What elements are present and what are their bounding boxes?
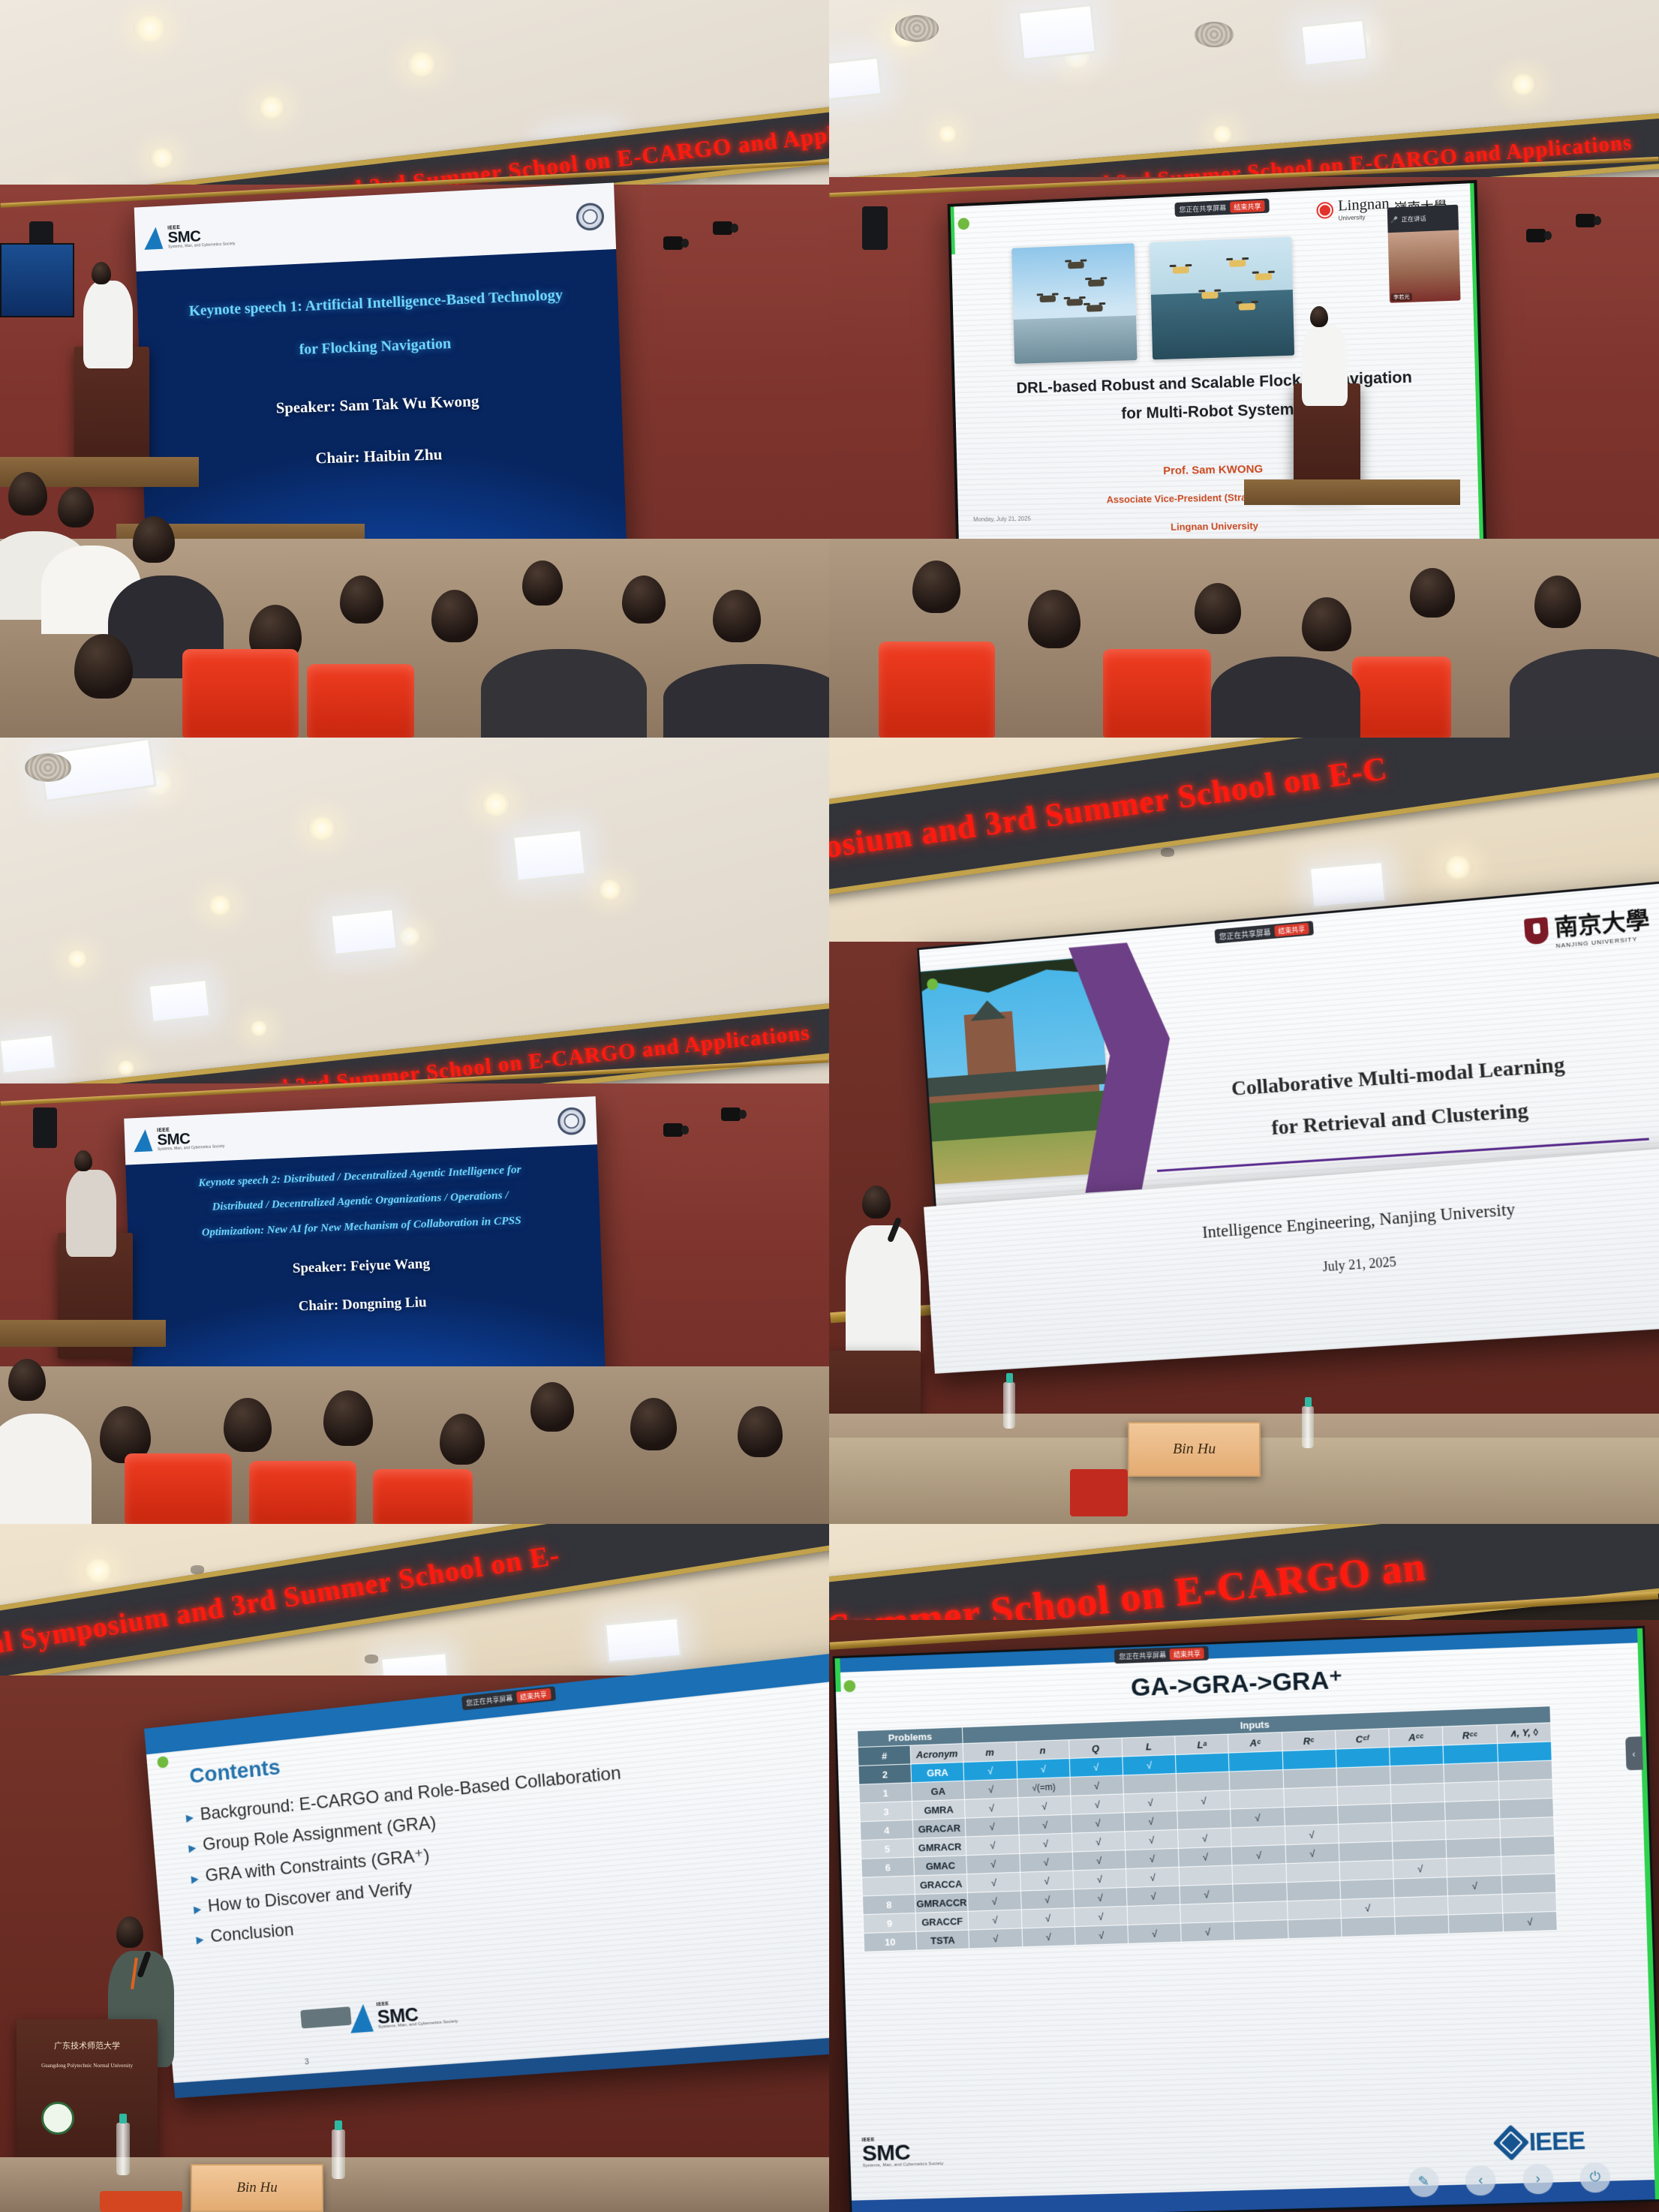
nanjing-university-logo: 南京大學 NANJING UNIVERSITY	[1523, 900, 1651, 952]
ceiling-panel-light	[829, 56, 882, 101]
row-number: 10	[864, 1931, 917, 1952]
ceiling-vent	[895, 15, 939, 42]
table-cell	[1448, 1895, 1503, 1915]
col-header-acronym: Acronym	[910, 1744, 963, 1764]
table-cell: √	[1179, 1847, 1233, 1867]
table-cell	[1176, 1753, 1230, 1773]
bullet-arrow-icon: ▶	[191, 1873, 199, 1886]
downlight	[406, 52, 437, 77]
table-cell: √	[1020, 1871, 1073, 1891]
table-cell	[1339, 1841, 1393, 1862]
col-header-m: m	[963, 1742, 1017, 1762]
screen-highlight-edge	[950, 206, 954, 254]
smc-label: SMC	[862, 2141, 944, 2165]
drone-icon	[1066, 299, 1083, 306]
projection-screen: 您正在共享屏幕 结束共享 GA->GRA->GRA⁺ Problems Inpu…	[833, 1626, 1659, 2212]
col-header-num: #	[858, 1745, 911, 1766]
table-cell: √	[1181, 1922, 1235, 1942]
row-acronym: GMAC	[914, 1856, 967, 1876]
table-cell	[1231, 1826, 1285, 1847]
ceiling-panel-light	[0, 1033, 57, 1074]
table-cell	[1393, 1840, 1447, 1860]
annotation-badge[interactable]	[157, 1756, 169, 1769]
row-acronym: TSTA	[916, 1930, 969, 1950]
share-status-text: 您正在共享屏幕	[1119, 1649, 1166, 1661]
audience-head	[440, 1414, 485, 1465]
slide-title-line2: Distributed / Decentralized Agentic Orga…	[140, 1186, 584, 1217]
name-plate: Bin Hu	[191, 2164, 323, 2212]
table-cell	[1177, 1772, 1231, 1792]
table-cell: √	[1180, 1884, 1234, 1904]
bullet-text: Conclusion	[209, 1920, 294, 1948]
bullet-text: How to Discover and Verify	[207, 1878, 413, 1916]
table-cell: √	[1177, 1790, 1231, 1811]
table-cell	[1499, 1798, 1554, 1819]
audience-shoulders	[0, 1414, 92, 1524]
speaking-status: 正在讲话	[1401, 214, 1426, 224]
drone-icon	[1173, 266, 1189, 274]
downlight	[937, 125, 958, 143]
lingnan-mark-icon	[1316, 201, 1333, 218]
table-cell: √	[1020, 1889, 1074, 1910]
ceiling-panel-light	[1017, 4, 1097, 61]
ceiling-panel-light	[147, 978, 211, 1023]
col-header-Acc: Aᶜᶜ	[1389, 1727, 1443, 1748]
share-status-text: 您正在共享屏幕	[1179, 203, 1226, 215]
ceiling-vent	[25, 753, 71, 782]
share-status-text: 您正在共享屏幕	[1219, 926, 1271, 942]
table-cell	[1447, 1856, 1501, 1877]
table-cell: √	[1124, 1811, 1178, 1831]
annotation-badge[interactable]	[958, 218, 970, 230]
downlight	[597, 879, 623, 900]
water-bottle	[1302, 1406, 1314, 1448]
slide-title-line1: Keynote speech 1: Artificial Intelligenc…	[156, 286, 598, 323]
table-cell	[1392, 1820, 1446, 1841]
table-cell	[1282, 1749, 1336, 1770]
smc-sublabel: Systems, Man, and Cybernetics Society	[862, 2162, 943, 2169]
participant-video-tile[interactable]: 🎤 正在讲话 李若光	[1387, 204, 1460, 302]
slide-title-line2: for Multi-Robot Systems	[966, 395, 1469, 426]
stop-share-button[interactable]: 结束共享	[515, 1688, 551, 1703]
auditorium-chair	[249, 1461, 357, 1524]
drone-icon	[1229, 260, 1246, 267]
name-plate-text: Bin Hu	[1173, 1441, 1216, 1458]
partner-logo-pill	[300, 2006, 351, 2029]
audience-shoulders	[1211, 657, 1360, 738]
camera	[1576, 214, 1595, 227]
auditorium-chair	[182, 649, 299, 738]
audience-head	[622, 576, 666, 624]
smc-logo: IEEE SMC Systems, Man, and Cybernetics S…	[350, 1997, 458, 2033]
ceiling-panel-light	[329, 907, 398, 956]
screen-share-bar[interactable]: 您正在共享屏幕 结束共享	[1174, 198, 1269, 217]
table-cell: √	[1070, 1775, 1123, 1796]
audience-head	[431, 590, 478, 642]
table-cell: √	[1021, 1908, 1074, 1928]
table-cell	[1338, 1804, 1392, 1824]
audience-head	[8, 472, 47, 515]
slide-speaker: Speaker: Sam Tak Wu Kwong	[160, 387, 602, 422]
table-cell: √	[1071, 1794, 1124, 1814]
downlight	[116, 1060, 136, 1076]
ieee-logo: IEEE	[1498, 2126, 1585, 2157]
audience-shoulders	[481, 649, 647, 738]
table-cell: √	[1126, 1867, 1180, 1887]
stop-share-button[interactable]: 结束共享	[1230, 200, 1265, 212]
ceiling-vent	[1195, 22, 1234, 47]
table-cell	[1391, 1802, 1445, 1822]
table-cell: √	[1123, 1793, 1177, 1813]
table-body: 2GRA√√√√1GA√√(=m)√3GMRA√√√√√4GRACAR√√√√√…	[858, 1742, 1557, 1952]
smc-logo: IEEE SMC Systems, Man, and Cybernetics S…	[146, 224, 236, 251]
row-number: 4	[860, 1820, 913, 1840]
table-cell	[1234, 1901, 1288, 1922]
red-bag	[1070, 1469, 1128, 1516]
table-cell: √	[1074, 1906, 1127, 1926]
row-acronym: GMRACCR	[915, 1892, 968, 1913]
table-cell: √	[1123, 1755, 1177, 1775]
screen-share-bar[interactable]: 您正在共享屏幕 结束共享	[1214, 921, 1313, 943]
smc-triangle-icon	[134, 1129, 155, 1153]
audience-head	[530, 1382, 574, 1432]
camera	[713, 221, 732, 235]
table-cell	[1502, 1892, 1557, 1913]
screen-highlight-edge	[835, 1658, 841, 1692]
auditorium-chair	[879, 642, 995, 738]
row-number: 5	[861, 1838, 914, 1859]
table-cell	[1446, 1838, 1501, 1858]
row-number: 1	[859, 1783, 912, 1803]
auditorium-chair	[373, 1469, 473, 1524]
table-cell	[1284, 1787, 1338, 1807]
table-cell: √	[1502, 1911, 1557, 1931]
col-header-Rcc: Rᶜᶜ	[1443, 1724, 1498, 1745]
downlight	[307, 816, 337, 840]
table-cell	[1444, 1763, 1498, 1784]
name-plate: Bin Hu	[1128, 1422, 1261, 1477]
table-cell: √	[966, 1853, 1020, 1874]
participant-face	[1387, 230, 1460, 303]
table-cell	[1390, 1745, 1444, 1766]
stop-share-button[interactable]: 结束共享	[1170, 1647, 1204, 1660]
table-cell: √	[1019, 1833, 1072, 1853]
slide-title-line1: Keynote speech 2: Distributed / Decentra…	[140, 1161, 583, 1192]
ceiling-panel-light	[512, 828, 587, 882]
table-cell: √	[968, 1910, 1021, 1930]
slide-chair: Chair: Haibin Zhu	[161, 440, 604, 473]
table-cell: √	[1072, 1850, 1126, 1871]
panel-keynote-1: The 1st International Symposium and 3rd …	[0, 0, 829, 738]
stop-share-button[interactable]: 结束共享	[1274, 922, 1309, 936]
table-cell	[1287, 1899, 1341, 1919]
speaker-head	[74, 1150, 92, 1171]
panel-kwong-talk: t International Symposium and 3rd Summer…	[829, 0, 1659, 738]
table-cell	[1230, 1789, 1284, 1809]
side-display	[0, 243, 74, 317]
downlight	[149, 148, 175, 168]
table-cell	[1337, 1785, 1391, 1805]
speaker-person	[1302, 325, 1348, 406]
panel-gra-table-slide: rd Summer School on E-CARGO an 您正在共享屏幕 结…	[829, 1524, 1659, 2212]
ieee-diamond-icon	[1493, 2125, 1530, 2161]
auditorium-chair	[125, 1453, 233, 1524]
table-cell	[1336, 1766, 1390, 1787]
row-acronym: GRACCF	[915, 1911, 969, 1931]
table-cell: √	[1022, 1927, 1075, 1947]
table-cell	[1501, 1855, 1555, 1875]
annotation-badge[interactable]	[927, 978, 939, 990]
row-acronym: GRA	[911, 1763, 964, 1783]
ceiling-panel-light	[1300, 19, 1369, 68]
podium-label-cn: 广东技术师范大学	[28, 2039, 146, 2051]
table-cell: √	[1285, 1843, 1339, 1863]
annotate-button[interactable]: ✎	[1408, 2166, 1440, 2197]
slide-number: 3	[304, 2057, 309, 2066]
panel-contents-slide: ional Symposium and 3rd Summer School on…	[0, 1524, 829, 2212]
table-cell: √	[1017, 1759, 1070, 1779]
table-cell	[1338, 1823, 1392, 1843]
table-cell	[1177, 1809, 1231, 1829]
water-bottle	[116, 2123, 130, 2175]
table-cell: √	[1069, 1757, 1123, 1777]
podium-label-en: Guangdong Polytechnic Normal University	[28, 2063, 146, 2069]
col-header-Ac: Aᶜ	[1228, 1733, 1282, 1754]
col-header-Rc: Rᶜ	[1282, 1730, 1336, 1751]
table-cell	[1339, 1860, 1393, 1880]
table-cell	[1498, 1779, 1553, 1800]
slide-footer-date: Monday, July 21, 2025	[973, 515, 1031, 523]
sprinkler	[1161, 848, 1174, 857]
table-cell	[1445, 1800, 1500, 1821]
table-cell: √	[963, 1760, 1017, 1781]
water-bottle	[332, 2129, 345, 2179]
table-cell	[1336, 1748, 1390, 1769]
slide-heading: Contents	[188, 1756, 281, 1790]
name-plate-text: Bin Hu	[236, 2180, 277, 2196]
table-cell	[1497, 1742, 1552, 1763]
table-cell: √	[1126, 1848, 1180, 1868]
drone-icon	[1086, 305, 1103, 312]
slide-presenter: Prof. Sam KWONG	[967, 458, 1471, 481]
table-cell: √	[1341, 1898, 1395, 1918]
table-cell	[1123, 1774, 1177, 1794]
nanjing-shield-icon	[1524, 917, 1549, 945]
downlight	[398, 927, 422, 946]
microphone-icon: 🎤	[1390, 216, 1399, 224]
bullet-arrow-icon: ▶	[188, 1841, 197, 1854]
row-number: 8	[862, 1895, 915, 1915]
drone-icon	[1088, 279, 1104, 287]
table-cell	[1286, 1880, 1340, 1901]
row-acronym: GRACAR	[912, 1818, 966, 1838]
table-cell	[1501, 1874, 1556, 1894]
lingnan-name: Lingnan	[1338, 195, 1390, 215]
col-header-n: n	[1016, 1740, 1069, 1760]
table-cell	[1283, 1768, 1337, 1788]
table-cell	[1284, 1805, 1338, 1826]
cityscape	[1013, 315, 1137, 363]
table-cell	[1393, 1877, 1447, 1898]
table-cell: √	[1125, 1829, 1179, 1850]
collapse-handle[interactable]: ‹	[1625, 1737, 1643, 1771]
downlight	[83, 1558, 113, 1582]
drone-icon	[1201, 291, 1218, 299]
photo-collage: The 1st International Symposium and 3rd …	[0, 0, 1659, 2212]
table-cell	[1394, 1896, 1448, 1916]
table-cell: √	[967, 1872, 1020, 1892]
col-header-Q: Q	[1068, 1738, 1122, 1758]
speaker-head	[116, 1916, 143, 1948]
table-cell: √	[1073, 1869, 1126, 1889]
table-cell: √	[1285, 1824, 1339, 1844]
camera	[663, 236, 683, 250]
downlight	[1211, 125, 1234, 143]
campus-photo	[917, 956, 1113, 1184]
participant-name: 李若光	[1391, 293, 1412, 301]
table-cell	[1288, 1918, 1342, 1938]
table-cell	[1127, 1904, 1181, 1925]
row-acronym: GMRA	[912, 1799, 966, 1820]
table-cell	[1340, 1879, 1394, 1899]
slide-title-line2: for Flocking Navigation	[158, 330, 600, 365]
wall-speaker	[33, 1108, 57, 1148]
row-number	[862, 1876, 915, 1896]
table-cell: √	[1178, 1828, 1232, 1848]
table-cell	[1286, 1862, 1340, 1882]
ieee-wordmark: IEEE	[1528, 2126, 1585, 2156]
audience-head	[133, 516, 175, 563]
bullet-arrow-icon: ▶	[196, 1934, 204, 1946]
video-tile-status: 🎤 正在讲话	[1387, 204, 1458, 232]
downlight	[207, 895, 233, 915]
table-cell: √	[1074, 1925, 1128, 1945]
table-cell: √	[966, 1817, 1019, 1837]
table-cell	[1233, 1883, 1287, 1903]
table-cell	[1395, 1915, 1449, 1935]
table-cell: √	[969, 1928, 1022, 1949]
wall-speaker	[862, 206, 888, 250]
table-cell	[1230, 1770, 1284, 1790]
table-cell: √	[1232, 1845, 1286, 1865]
podium: 广东技术师范大学 Guangdong Polytechnic Normal Un…	[17, 2019, 158, 2164]
table-cell	[1500, 1836, 1555, 1857]
table-cell: √	[1020, 1852, 1073, 1872]
gra-comparison-table: Problems Inputs # Acronym m n Q L Lᵃ Aᶜ …	[857, 1706, 1558, 1952]
col-header-La: Lᵃ	[1175, 1734, 1229, 1754]
table-cell: √	[968, 1891, 1021, 1911]
downlight	[257, 96, 286, 119]
col-header-Ccf: Cᶜᶠ	[1335, 1729, 1389, 1750]
row-number: 6	[861, 1857, 915, 1877]
row-acronym: GMRACR	[913, 1837, 966, 1857]
camera	[1526, 229, 1546, 242]
camera	[663, 1123, 683, 1137]
audience-head	[912, 561, 960, 613]
speaker-person	[66, 1170, 116, 1256]
smc-triangle-icon	[350, 2003, 374, 2033]
downlight	[249, 1020, 269, 1036]
table-cell	[1390, 1783, 1444, 1804]
speaker-head	[862, 1186, 891, 1219]
row-acronym: GA	[912, 1781, 965, 1801]
slide-speaker: Speaker: Feiyue Wang	[143, 1250, 587, 1282]
camera	[721, 1108, 741, 1121]
table-cell: √	[1128, 1923, 1182, 1943]
panel-keynote-2: 1st International Symposium and 3rd Summ…	[0, 738, 829, 1524]
table-cell	[1180, 1903, 1234, 1923]
table-cell	[1449, 1913, 1504, 1934]
downlight	[133, 15, 167, 42]
gavel	[100, 2191, 183, 2212]
drone-icon	[1039, 295, 1056, 302]
slide-title-line1: DRL-based Robust and Scalable Flocking N…	[965, 366, 1468, 398]
table-cell	[1499, 1817, 1554, 1838]
table-cell	[1179, 1865, 1233, 1886]
drone-icon	[1068, 261, 1084, 269]
bullet-arrow-icon: ▶	[185, 1811, 194, 1824]
table-cell: √	[1393, 1859, 1447, 1879]
table-cell	[1234, 1920, 1288, 1940]
auditorium-chair	[1352, 657, 1452, 738]
drone-icon	[1239, 303, 1255, 311]
col-header-symbols: ∧, Υ, ◊	[1496, 1723, 1551, 1744]
table-cell	[1229, 1751, 1283, 1772]
table-cell: √	[1071, 1832, 1125, 1852]
water-bottle	[1003, 1382, 1015, 1429]
audience-head	[630, 1398, 677, 1450]
next-page-button[interactable]: ›	[1522, 2163, 1554, 2194]
front-table	[0, 1320, 166, 1348]
auditorium-chair	[1103, 649, 1211, 738]
table-cell	[1232, 1864, 1286, 1884]
ceiling-panel-light	[1309, 860, 1387, 909]
front-table	[1244, 479, 1460, 505]
drone-photo-left	[1011, 242, 1137, 363]
smc-triangle-icon	[145, 227, 166, 251]
sprinkler	[365, 1654, 378, 1664]
audience-shoulders	[1510, 649, 1659, 738]
auditorium-chair	[307, 664, 415, 738]
table-cell: √	[1231, 1808, 1285, 1828]
university-seal-icon	[576, 203, 604, 232]
speaker-person	[83, 281, 133, 369]
slide-title-line3: Optimization: New AI for New Mechanism o…	[141, 1212, 585, 1241]
bullet-arrow-icon: ▶	[193, 1903, 201, 1916]
table-cell	[1341, 1916, 1395, 1937]
table-cell: √	[1447, 1875, 1502, 1895]
row-number: 2	[858, 1764, 912, 1784]
table-cell: √	[1071, 1813, 1125, 1833]
table-cell: √	[964, 1779, 1017, 1799]
share-status-text: 您正在共享屏幕	[465, 1693, 512, 1708]
table-cell	[1390, 1764, 1444, 1785]
table-cell	[1443, 1744, 1498, 1765]
table-cell: √	[1018, 1814, 1071, 1835]
table-cell: √	[966, 1835, 1019, 1856]
ceiling-panel-light	[603, 1617, 681, 1664]
slide-affiliation-2: Lingnan University	[968, 516, 1471, 535]
slide-chair: Chair: Dongning Liu	[144, 1288, 588, 1319]
table-cell: √(=m)	[1017, 1777, 1070, 1797]
smc-sublabel: Systems, Man, and Cybernetics Society	[168, 243, 236, 250]
audience-shoulders	[663, 664, 829, 738]
table-cell	[1446, 1819, 1501, 1840]
bullet-list: ▶ Background: E-CARGO and Role-Based Col…	[185, 1738, 829, 1949]
table-cell: √	[965, 1798, 1018, 1818]
row-acronym: GRACCA	[915, 1874, 968, 1895]
table-cell	[1498, 1760, 1552, 1781]
